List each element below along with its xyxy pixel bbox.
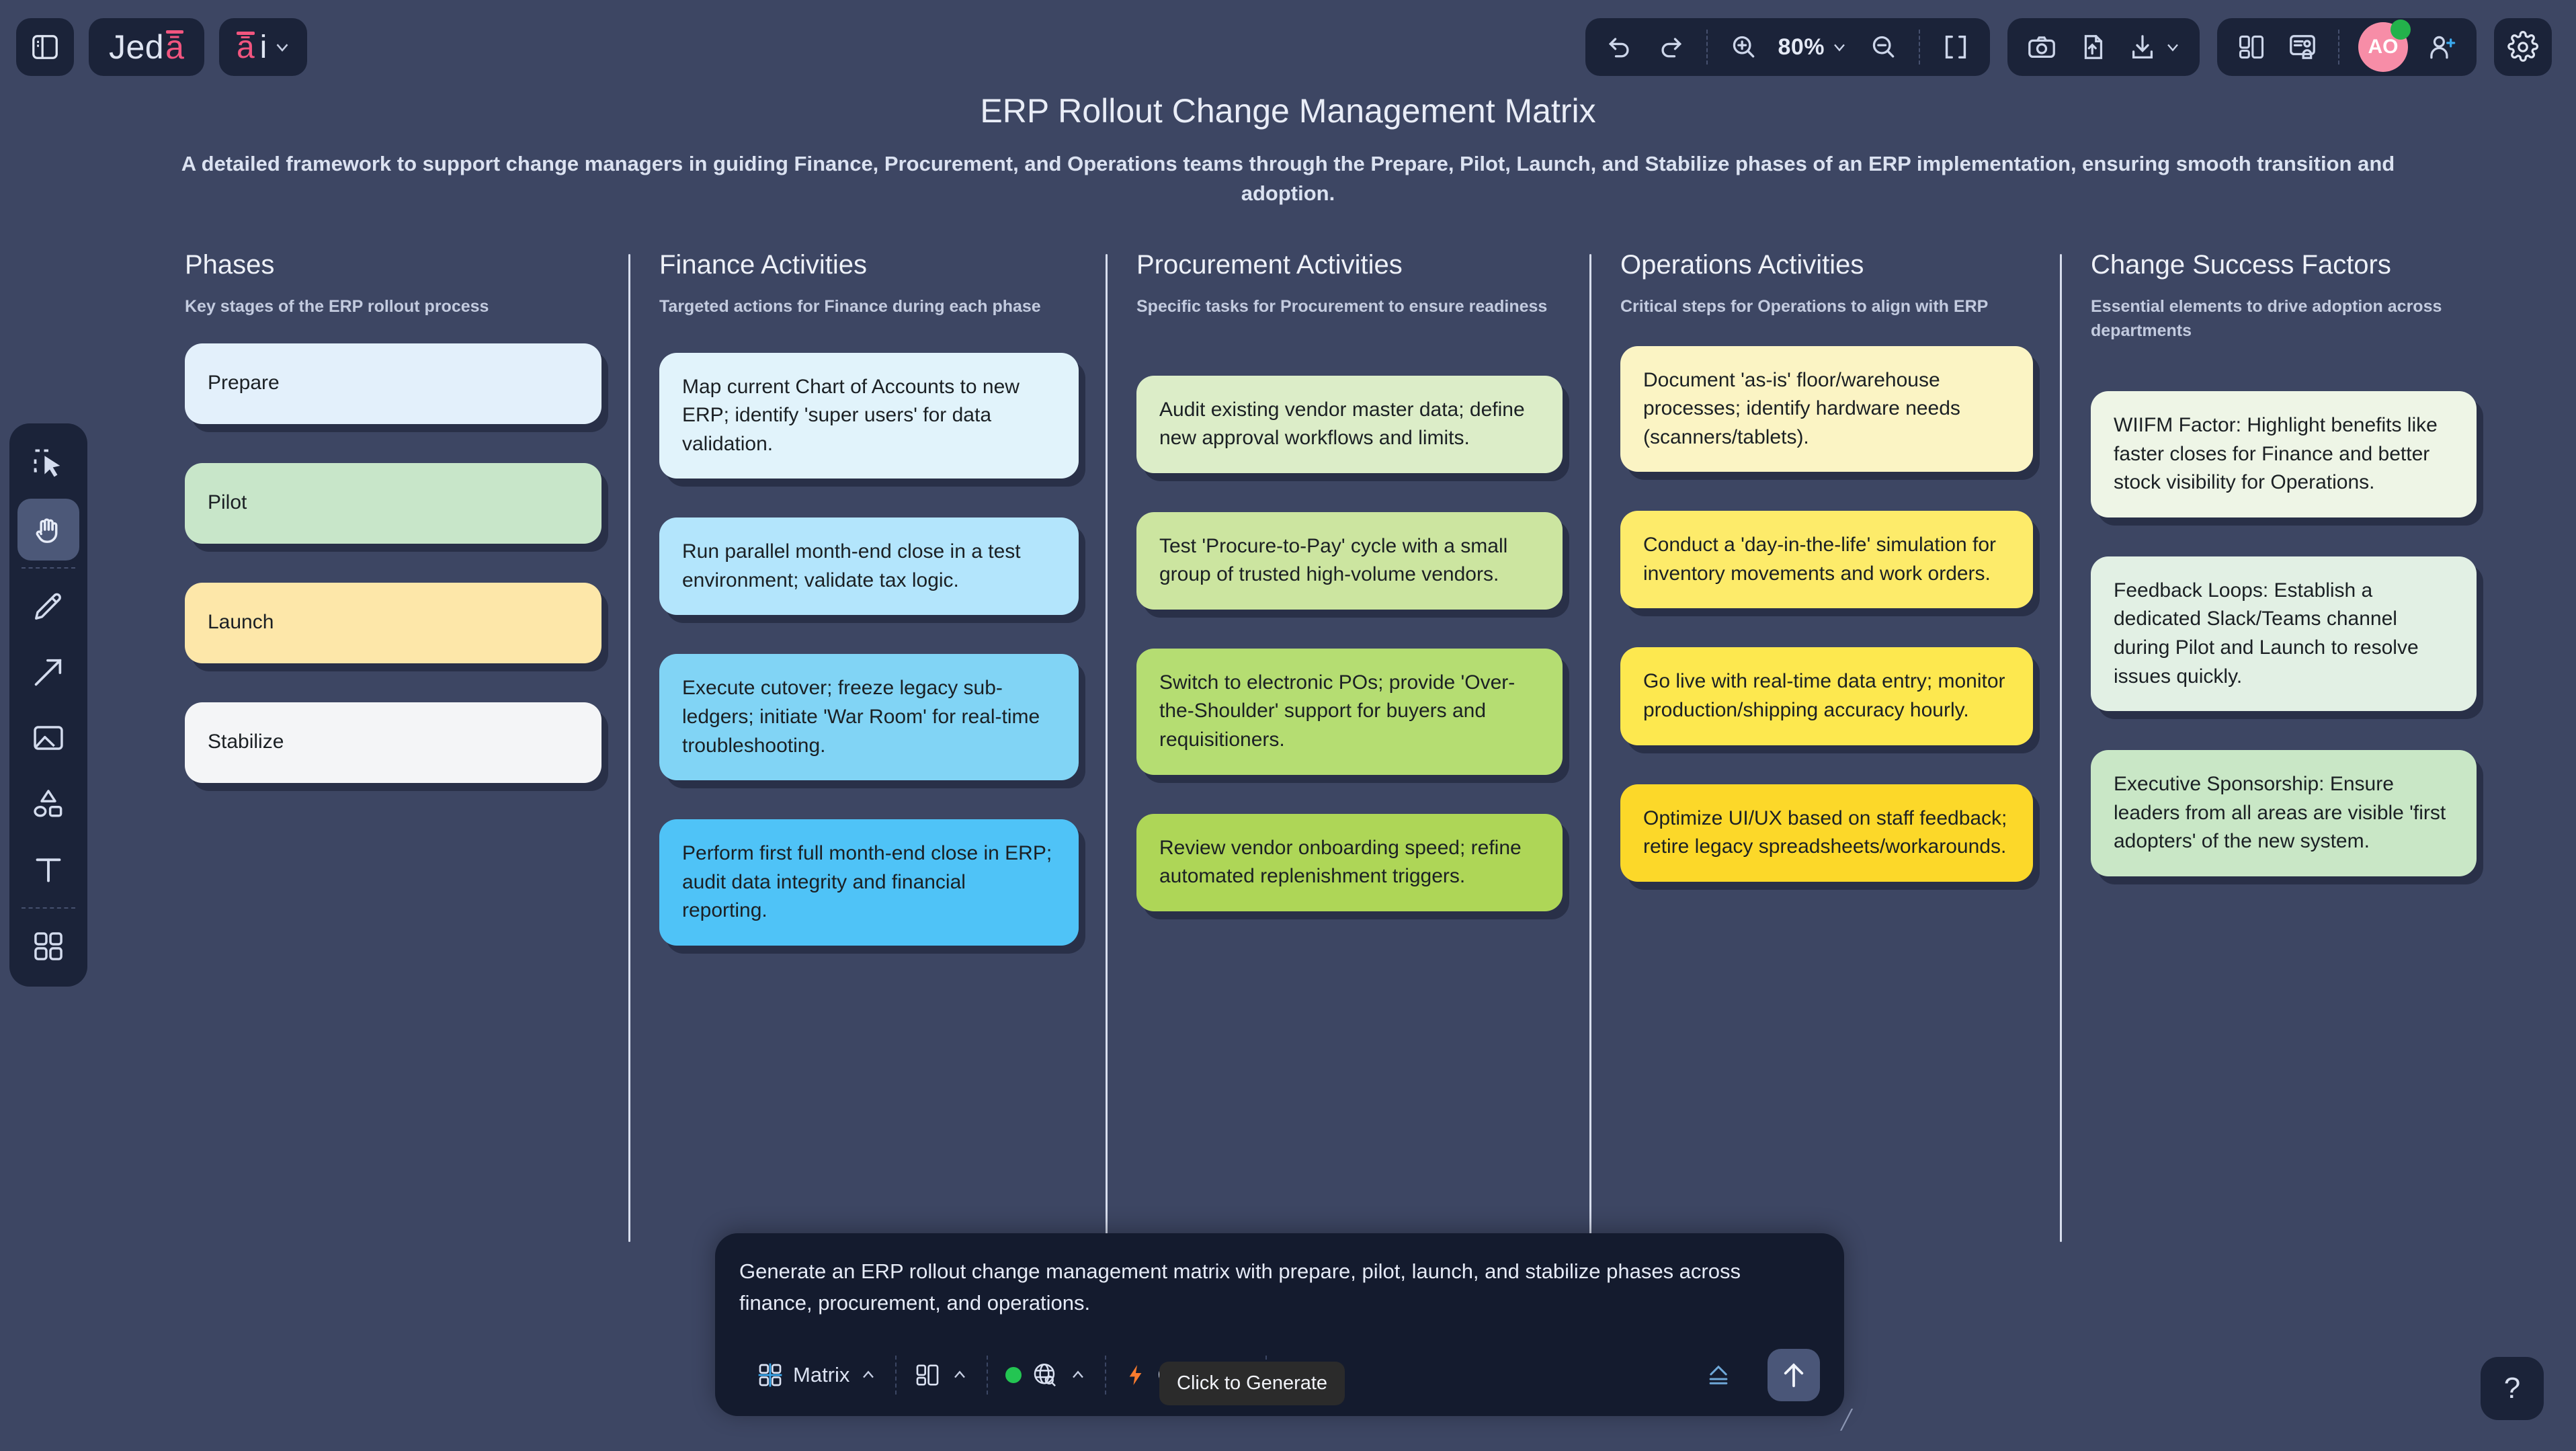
layout-view-button[interactable] — [2228, 24, 2275, 71]
activity-card[interactable]: Execute cutover; freeze legacy sub-ledge… — [659, 654, 1079, 780]
column-description: Key stages of the ERP rollout process — [185, 295, 601, 319]
page-subtitle: A detailed framework to support change m… — [156, 149, 2421, 208]
card-text: Test 'Procure-to-Pay' cycle with a small… — [1159, 532, 1540, 589]
toolbar-divider — [1919, 30, 1920, 65]
select-tool[interactable] — [17, 433, 79, 495]
tool-divider — [22, 567, 75, 569]
hand-icon — [31, 512, 66, 547]
column-cards: WIIFM Factor: Highlight benefits like fa… — [2091, 391, 2477, 876]
matrix-column-finance: Finance Activities Targeted actions for … — [628, 250, 1106, 985]
zoom-level-selector[interactable]: 80% — [1771, 24, 1856, 71]
phase-card[interactable]: Launch — [185, 583, 601, 663]
presentation-button[interactable] — [2279, 24, 2326, 71]
ai-logo-i: i — [260, 29, 267, 66]
zoom-out-button[interactable] — [1860, 24, 1907, 71]
ai-logo-a: ā — [237, 29, 255, 66]
phase-card[interactable]: Pilot — [185, 463, 601, 544]
ai-menu-button[interactable]: ā i — [219, 18, 307, 76]
history-zoom-group: 80% — [1585, 18, 1990, 76]
view-collaborators-group: AO — [2217, 18, 2477, 76]
column-title: Phases — [185, 250, 601, 280]
tool-divider — [22, 907, 75, 909]
active-status-dot — [1005, 1367, 1022, 1383]
shapes-tool[interactable] — [17, 773, 79, 835]
arrow-icon — [31, 655, 66, 690]
layout-selector[interactable] — [897, 1352, 987, 1399]
phase-card[interactable]: Prepare — [185, 343, 601, 424]
hand-tool[interactable] — [17, 499, 79, 561]
column-cards: Audit existing vendor master data; defin… — [1136, 376, 1563, 911]
undo-button[interactable] — [1596, 24, 1643, 71]
chevron-down-icon — [2163, 38, 2182, 56]
arrow-up-icon — [1778, 1360, 1809, 1391]
success-factor-card[interactable]: WIIFM Factor: Highlight benefits like fa… — [2091, 391, 2477, 517]
fit-to-screen-button[interactable] — [1932, 24, 1979, 71]
column-divider — [2060, 254, 2062, 1242]
zoom-in-button[interactable] — [1720, 24, 1767, 71]
question-mark-icon: ? — [2504, 1372, 2520, 1405]
zoom-level-value: 80% — [1778, 34, 1825, 60]
card-text: Feedback Loops: Establish a dedicated Sl… — [2114, 577, 2454, 691]
card-text: Pilot — [208, 489, 247, 517]
activity-card[interactable]: Switch to electronic POs; provide 'Over-… — [1136, 649, 1563, 775]
page-title: ERP Rollout Change Management Matrix — [0, 91, 2576, 130]
card-text: Executive Sponsorship: Ensure leaders fr… — [2114, 770, 2454, 856]
output-mode-selector[interactable]: Matrix — [739, 1352, 895, 1399]
column-title: Procurement Activities — [1136, 250, 1563, 280]
column-divider — [1106, 254, 1108, 1242]
column-title: Finance Activities — [659, 250, 1079, 280]
chevron-up-icon — [950, 1366, 969, 1384]
activity-card[interactable]: Conduct a 'day-in-the-life' simulation f… — [1620, 511, 2033, 608]
success-factor-card[interactable]: Feedback Loops: Establish a dedicated Sl… — [2091, 556, 2477, 711]
card-text: WIIFM Factor: Highlight benefits like fa… — [2114, 411, 2454, 497]
column-description: Essential elements to drive adoption acr… — [2091, 295, 2477, 343]
phase-card[interactable]: Stabilize — [185, 702, 601, 783]
top-toolbar: Jed ā ā i — [0, 0, 2576, 94]
capture-export-group — [2007, 18, 2200, 76]
image-icon — [31, 720, 66, 755]
card-text: Perform first full month-end close in ER… — [682, 839, 1056, 925]
activity-card[interactable]: Perform first full month-end close in ER… — [659, 819, 1079, 946]
card-text: Launch — [208, 608, 274, 637]
column-divider — [1589, 254, 1591, 1242]
app-root: Jed ā ā i — [0, 0, 2576, 1451]
matrix-column-procurement: Procurement Activities Specific tasks fo… — [1106, 250, 1589, 950]
column-cards: Map current Chart of Accounts to new ERP… — [659, 353, 1079, 946]
activity-card[interactable]: Map current Chart of Accounts to new ERP… — [659, 353, 1079, 479]
grid-icon — [31, 929, 66, 964]
card-text: Switch to electronic POs; provide 'Over-… — [1159, 669, 1540, 755]
screenshot-button[interactable] — [2018, 24, 2065, 71]
matrix-column-change-success-factors: Change Success Factors Essential element… — [2060, 250, 2503, 915]
column-cards: Document 'as-is' floor/warehouse process… — [1620, 346, 2033, 882]
card-text: Run parallel month-end close in a test e… — [682, 538, 1056, 595]
card-text: Review vendor onboarding speed; refine a… — [1159, 834, 1540, 891]
top-toolbar-right: 80% — [1585, 18, 2576, 76]
success-factor-card[interactable]: Executive Sponsorship: Ensure leaders fr… — [2091, 750, 2477, 876]
top-toolbar-left: Jed ā ā i — [0, 18, 307, 76]
card-text: Optimize UI/UX based on staff feedback; … — [1643, 804, 2010, 862]
toolbar-divider — [1706, 30, 1708, 65]
column-title: Change Success Factors — [2091, 250, 2477, 280]
card-text: Execute cutover; freeze legacy sub-ledge… — [682, 674, 1056, 760]
generate-tooltip: Click to Generate — [1159, 1362, 1345, 1405]
matrix-icon — [757, 1362, 784, 1388]
activity-card[interactable]: Run parallel month-end close in a test e… — [659, 517, 1079, 615]
tool-rail — [9, 423, 87, 987]
lightning-icon — [1124, 1363, 1148, 1387]
brand-logo-text: Jed — [109, 28, 164, 67]
matrix-column-phases: Phases Key stages of the ERP rollout pro… — [185, 250, 628, 822]
help-button[interactable]: ? — [2481, 1357, 2544, 1420]
column-divider — [628, 254, 630, 1242]
resize-grip-icon[interactable]: ╱ — [1841, 1409, 1852, 1431]
chevron-up-icon — [1069, 1366, 1087, 1384]
arrow-tool[interactable] — [17, 641, 79, 703]
card-text: Conduct a 'day-in-the-life' simulation f… — [1643, 531, 2010, 588]
chevron-down-icon — [1830, 38, 1849, 56]
activity-card[interactable]: Go live with real-time data entry; monit… — [1620, 647, 2033, 745]
column-description: Specific tasks for Procurement to ensure… — [1136, 295, 1563, 319]
column-cards: Prepare Pilot Launch Stabilize — [185, 343, 601, 783]
globe-search-icon — [1031, 1361, 1059, 1389]
toolbar-divider — [2338, 30, 2339, 65]
activity-card[interactable]: Review vendor onboarding speed; refine a… — [1136, 814, 1563, 911]
card-text: Document 'as-is' floor/warehouse process… — [1643, 366, 2010, 452]
card-text: Audit existing vendor master data; defin… — [1159, 396, 1540, 453]
shapes-icon — [31, 786, 66, 821]
image-tool[interactable] — [17, 707, 79, 769]
activity-card[interactable]: Document 'as-is' floor/warehouse process… — [1620, 346, 2033, 472]
card-text: Prepare — [208, 369, 280, 398]
online-status-dot — [2391, 19, 2411, 40]
activity-card[interactable]: Optimize UI/UX based on staff feedback; … — [1620, 784, 2033, 882]
web-search-toggle[interactable] — [988, 1352, 1105, 1399]
pencil-tool[interactable] — [17, 575, 79, 637]
attach-button[interactable] — [1687, 1352, 1750, 1399]
column-title: Operations Activities — [1620, 250, 2033, 280]
card-text: Map current Chart of Accounts to new ERP… — [682, 373, 1056, 459]
pencil-icon — [31, 589, 66, 624]
gear-icon — [2507, 31, 2539, 63]
text-icon — [31, 852, 66, 887]
sidebar-panel-icon — [30, 32, 60, 63]
matrix-grid: Phases Key stages of the ERP rollout pro… — [185, 250, 2537, 985]
matrix-column-operations: Operations Activities Critical steps for… — [1589, 250, 2060, 921]
toggle-sidebar-button[interactable] — [16, 18, 74, 76]
card-text: Stabilize — [208, 728, 284, 757]
activity-card[interactable]: Test 'Procure-to-Pay' cycle with a small… — [1136, 512, 1563, 610]
eject-icon — [1704, 1361, 1733, 1389]
card-text: Go live with real-time data entry; monit… — [1643, 667, 2010, 724]
select-cursor-icon — [31, 446, 66, 481]
layout-icon — [914, 1362, 941, 1388]
column-description: Targeted actions for Finance during each… — [659, 295, 1079, 319]
chevron-up-icon — [859, 1366, 878, 1384]
prompt-input[interactable]: Generate an ERP rollout change managemen… — [739, 1256, 1820, 1330]
apps-grid-tool[interactable] — [17, 915, 79, 977]
prompt-dock-actions — [1687, 1349, 1820, 1401]
brand-logo[interactable]: Jed ā — [89, 18, 204, 76]
brand-logo-accent: ā — [165, 28, 184, 67]
chevron-down-icon — [272, 37, 292, 57]
generate-button[interactable] — [1768, 1349, 1820, 1401]
redo-button[interactable] — [1647, 24, 1694, 71]
output-mode-label: Matrix — [793, 1363, 849, 1387]
download-button[interactable] — [2120, 24, 2189, 71]
text-tool[interactable] — [17, 839, 79, 901]
invite-user-button[interactable] — [2419, 24, 2466, 71]
settings-button[interactable] — [2494, 18, 2552, 76]
avatar[interactable]: AO — [2352, 24, 2415, 71]
column-description: Critical steps for Operations to align w… — [1620, 295, 2033, 319]
upload-file-button[interactable] — [2069, 24, 2116, 71]
activity-card[interactable]: Audit existing vendor master data; defin… — [1136, 376, 1563, 473]
